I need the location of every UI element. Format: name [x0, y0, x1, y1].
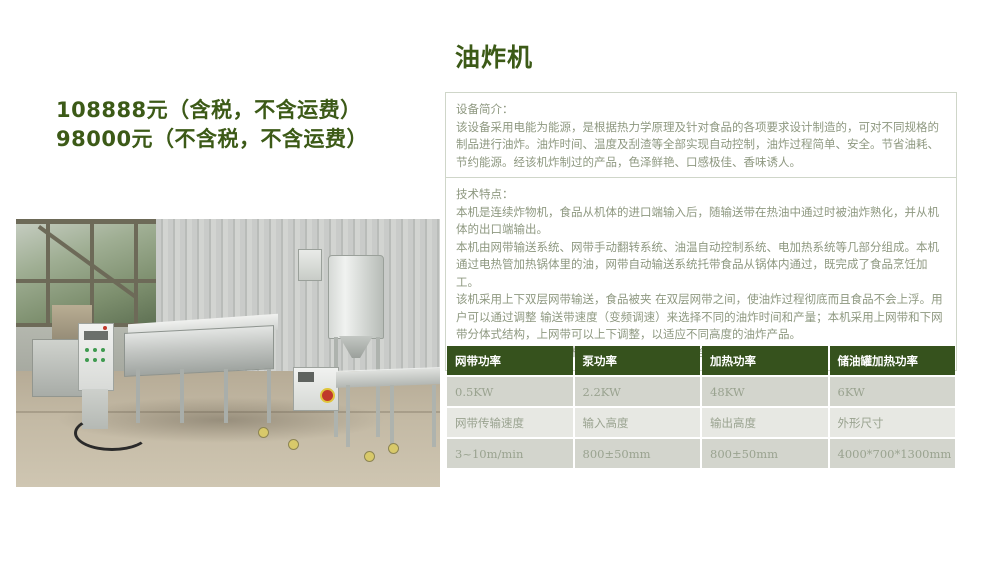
photo-control-panel-secondary	[293, 367, 339, 411]
equipment-introduction-box: 设备简介： 该设备采用电能为能源，是根据热力学原理及针对食品的各项要求设计制造的…	[445, 92, 957, 181]
photo-caster-wheel	[258, 427, 269, 438]
technical-features-box: 技术特点： 本机是连续炸物机，食品从机体的进口端输入后，随输送带在热油中通过时被…	[445, 177, 957, 371]
photo-wall-control-box	[298, 249, 322, 281]
photo-caster-wheel	[288, 439, 299, 450]
table-cell: 48KW	[702, 377, 828, 406]
table-subheader-cell: 输入高度	[575, 408, 701, 437]
features-heading: 技术特点：	[456, 186, 946, 204]
photo-side-machine	[32, 339, 84, 397]
table-cell: 800±50mm	[575, 439, 701, 468]
page-title: 油炸机	[455, 38, 533, 74]
table-header-cell: 储油罐加热功率	[830, 346, 956, 375]
table-subheader-cell: 外形尺寸	[830, 408, 956, 437]
table-cell: 2.2KW	[575, 377, 701, 406]
price-line-with-tax: 108888元（含税，不含运费）	[56, 96, 446, 125]
photo-control-panel-main	[78, 323, 114, 391]
features-paragraph: 本机是连续炸物机，食品从机体的进口端输入后，随输送带在热油中通过时被油炸熟化，并…	[456, 204, 946, 239]
table-row-header-2: 网带传输速度 输入高度 输出高度 外形尺寸	[447, 408, 955, 437]
table-row-values-1: 0.5KW 2.2KW 48KW 6KW	[447, 377, 955, 406]
table-cell: 4000*700*1300mm	[830, 439, 956, 468]
intro-paragraph: 该设备采用电能为能源，是根据热力学原理及针对食品的各项要求设计制造的，可对不同规…	[456, 119, 946, 172]
photo-fryer-legs	[136, 369, 271, 423]
features-paragraph: 该机采用上下双层网带输送，食品被夹 在双层网带之间，使油炸过程彻底而且食品不会上…	[456, 291, 946, 344]
photo-caster-wheel	[364, 451, 375, 462]
table-row-header-1: 网带功率 泵功率 加热功率 储油罐加热功率	[447, 346, 955, 375]
intro-heading: 设备简介：	[456, 101, 946, 119]
photo-conveyor-legs	[346, 385, 436, 447]
product-photo	[16, 219, 440, 487]
table-cell: 3~10m/min	[447, 439, 573, 468]
features-paragraph: 本机由网带输送系统、网带手动翻转系统、油温自动控制系统、电加热系统等几部分组成。…	[456, 239, 946, 292]
table-row-values-2: 3~10m/min 800±50mm 800±50mm 4000*700*130…	[447, 439, 955, 468]
table-header-cell: 泵功率	[575, 346, 701, 375]
table-cell: 6KW	[830, 377, 956, 406]
table-header-cell: 网带功率	[447, 346, 573, 375]
table-header-cell: 加热功率	[702, 346, 828, 375]
photo-caster-wheel	[388, 443, 399, 454]
price-line-without-tax: 98000元（不含税，不含运费）	[56, 125, 446, 154]
photo-oil-storage-tank	[328, 255, 384, 339]
photo-power-cable	[74, 415, 150, 451]
table-cell: 800±50mm	[702, 439, 828, 468]
price-block: 108888元（含税，不含运费） 98000元（不含税，不含运费）	[56, 96, 446, 154]
specification-table: 网带功率 泵功率 加热功率 储油罐加热功率 0.5KW 2.2KW 48KW 6…	[445, 344, 957, 470]
table-subheader-cell: 网带传输速度	[447, 408, 573, 437]
table-subheader-cell: 输出高度	[702, 408, 828, 437]
table-cell: 0.5KW	[447, 377, 573, 406]
